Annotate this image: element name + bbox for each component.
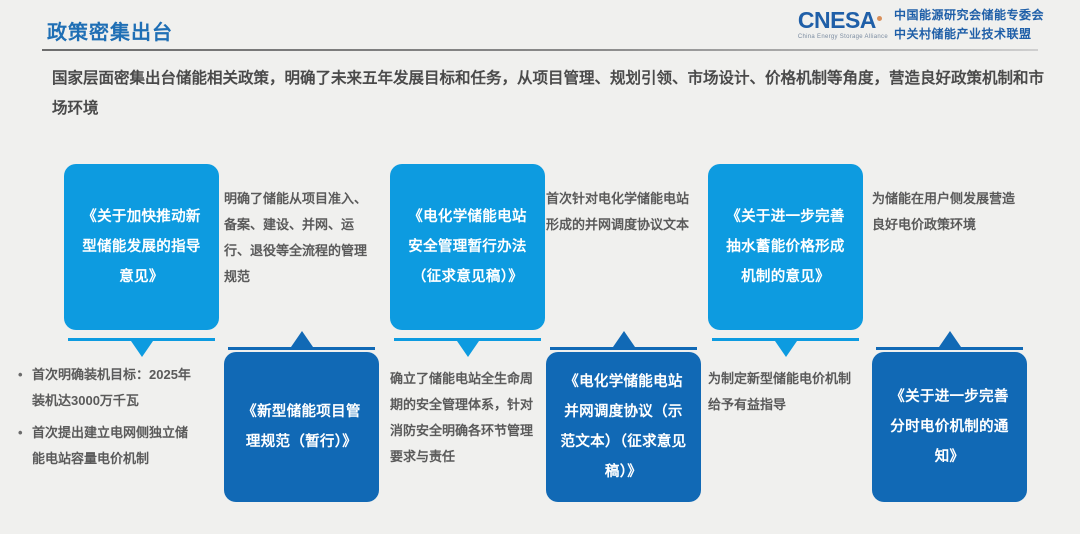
logo-chinese-name: 中国能源研究会储能专委会 中关村储能产业技术联盟 [894, 6, 1044, 42]
connector-6 [872, 328, 1027, 350]
connector-3 [390, 338, 545, 360]
policy-card-2[interactable]: 《新型储能项目管理规范（暂行）》 [224, 352, 379, 502]
connector-5 [708, 338, 863, 360]
intro-paragraph: 国家层面密集出台储能相关政策，明确了未来五年发展目标和任务，从项目管理、规划引领… [52, 64, 1052, 124]
logo-wordmark: CNESA [798, 7, 876, 33]
policy-flow-diagram: 《关于加快推动新型储能发展的指导意见》首次明确装机目标：2025年装机达3000… [0, 150, 1080, 534]
connector-bar [550, 347, 697, 350]
list-item: 首次明确装机目标：2025年装机达3000万千瓦 [18, 362, 193, 414]
connector-arrow-icon [775, 341, 797, 357]
policy-description-2: 明确了储能从项目准入、备案、建设、并网、运行、退役等全流程的管理规范 [224, 186, 376, 290]
policy-card-1[interactable]: 《关于加快推动新型储能发展的指导意见》 [64, 164, 219, 330]
page-title: 政策密集出台 [47, 16, 173, 45]
logo-tagline: China Energy Storage Alliance [798, 34, 888, 40]
logo-dot-icon [877, 16, 882, 21]
connector-arrow-icon [291, 331, 313, 347]
policy-description-4: 首次针对电化学储能电站形成的并网调度协议文本 [546, 186, 698, 238]
connector-arrow-icon [457, 341, 479, 357]
policy-card-3[interactable]: 《电化学储能电站安全管理暂行办法（征求意见稿）》 [390, 164, 545, 330]
connector-4 [546, 328, 701, 350]
connector-bar [876, 347, 1023, 350]
slide-header: 政策密集出台 CNESA China Energy Storage Allian… [0, 0, 1080, 52]
cnesa-logo: CNESA China Energy Storage Alliance 中国能源… [798, 6, 1044, 42]
title-divider [42, 49, 1038, 51]
logo-wordmark-row: CNESA [798, 9, 882, 32]
policy-description-5: 为制定新型储能电价机制给予有益指导 [708, 366, 860, 418]
connector-arrow-icon [131, 341, 153, 357]
connector-bar [228, 347, 375, 350]
policy-card-5[interactable]: 《关于进一步完善抽水蓄能价格形成机制的意见》 [708, 164, 863, 330]
list-item: 首次提出建立电网侧独立储能电站容量电价机制 [18, 420, 193, 472]
policy-card-6[interactable]: 《关于进一步完善分时电价机制的通知》 [872, 352, 1027, 502]
highlight-list: 首次明确装机目标：2025年装机达3000万千瓦首次提出建立电网侧独立储能电站容… [18, 362, 193, 472]
connector-1 [64, 338, 219, 360]
logo-cn-line-2: 中关村储能产业技术联盟 [894, 25, 1044, 42]
connector-arrow-icon [613, 331, 635, 347]
policy-card-4[interactable]: 《电化学储能电站并网调度协议（示范文本）（征求意见稿）》 [546, 352, 701, 502]
policy-description-3: 确立了储能电站全生命周期的安全管理体系，针对消防安全明确各环节管理要求与责任 [390, 366, 542, 470]
logo-mark: CNESA China Energy Storage Alliance [798, 9, 888, 40]
policy-highlights-1: 首次明确装机目标：2025年装机达3000万千瓦首次提出建立电网侧独立储能电站容… [18, 362, 193, 478]
connector-2 [224, 328, 379, 350]
logo-cn-line-1: 中国能源研究会储能专委会 [894, 6, 1044, 23]
connector-arrow-icon [939, 331, 961, 347]
policy-description-6: 为储能在用户侧发展营造良好电价政策环境 [872, 186, 1024, 238]
